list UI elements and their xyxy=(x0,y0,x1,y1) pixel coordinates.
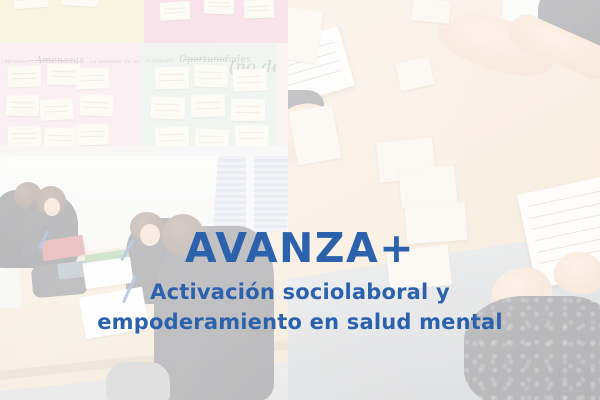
sticky-note xyxy=(39,98,73,121)
board-label-prefix: (Afrontar) xyxy=(2,59,30,65)
sticky-note xyxy=(289,105,342,166)
sticky-note xyxy=(61,0,98,7)
sticky-note xyxy=(151,96,186,119)
sticky-note xyxy=(76,67,110,89)
sticky-note xyxy=(233,68,268,91)
sticky-note xyxy=(411,0,451,24)
sticky-note xyxy=(204,0,235,15)
poster-subtitle: Activación sociolaboral y empoderamiento… xyxy=(0,269,600,338)
participant-face xyxy=(44,198,60,216)
sticky-note-boards-photo: (Afrontar) Amenazas (sí depende de mí) (… xyxy=(0,0,288,156)
poster-title: AVANZA+ xyxy=(0,228,600,269)
chair xyxy=(106,362,170,400)
rose-board xyxy=(144,0,288,43)
photo-collage-layer: (Afrontar) Amenazas (sí depende de mí) (… xyxy=(0,0,600,400)
wall-strip xyxy=(0,146,288,156)
sticky-note xyxy=(8,126,41,148)
sticky-note xyxy=(80,94,114,116)
sticky-note xyxy=(76,123,110,145)
sticky-note xyxy=(13,0,48,9)
poster-subtitle-line-1: Activación sociolaboral y xyxy=(0,278,600,308)
poster-subtitle-line-2: empoderamiento en salud mental xyxy=(0,308,600,338)
sticky-note xyxy=(194,64,229,87)
sticky-note xyxy=(6,95,39,117)
sticky-note xyxy=(244,0,275,19)
board-edge xyxy=(276,43,288,156)
yellow-board xyxy=(0,0,144,43)
sticky-note xyxy=(160,1,191,21)
sticky-note xyxy=(231,99,265,122)
board-label-prefix: (Explorar) xyxy=(145,58,174,64)
board-label-qualifier: (sí depende de mí) xyxy=(90,59,141,65)
sticky-note xyxy=(155,67,189,90)
sticky-note xyxy=(191,94,226,117)
sticky-note xyxy=(398,166,457,209)
sticky-note xyxy=(8,65,42,87)
mint-board: (Explorar) Oportunidades (no depende de … xyxy=(141,43,276,156)
sticky-note xyxy=(235,125,269,148)
poster-canvas: (Afrontar) Amenazas (sí depende de mí) (… xyxy=(0,0,600,400)
table-hands-notes-photo xyxy=(288,0,600,400)
pink-board: (Afrontar) Amenazas (sí depende de mí) xyxy=(0,43,141,156)
poster-text-block: AVANZA+ Activación sociolaboral y empode… xyxy=(0,228,600,338)
